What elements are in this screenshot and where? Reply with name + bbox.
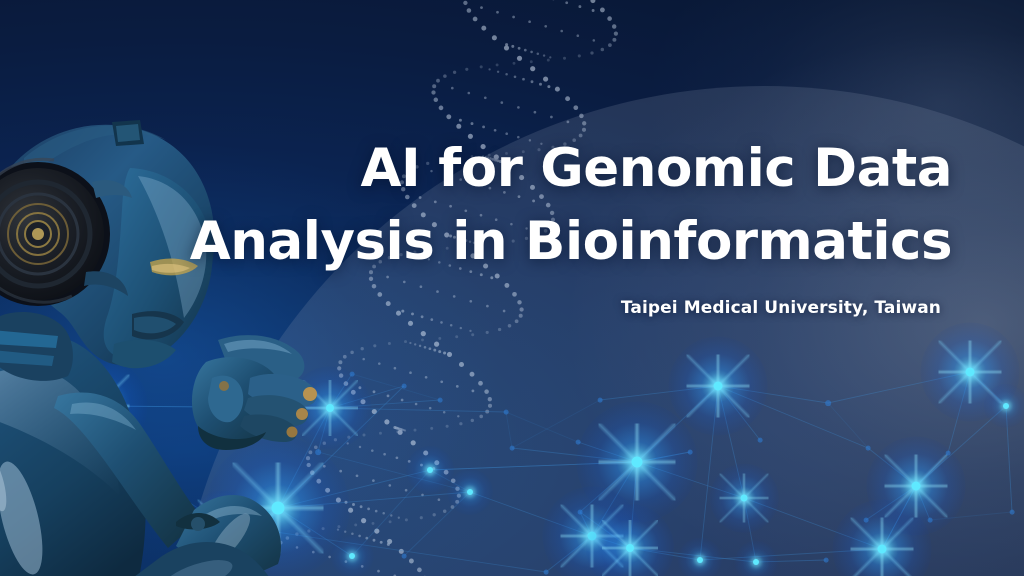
title-line-2: Analysis in Bioinformatics (52, 205, 952, 278)
title-line-1: AI for Genomic Data (361, 138, 952, 199)
page-title: AI for Genomic Data Analysis in Bioinfor… (52, 132, 952, 278)
subtitle: Taipei Medical University, Taiwan (41, 298, 941, 318)
presentation-slide: AI for Genomic Data Analysis in Bioinfor… (0, 0, 1024, 576)
